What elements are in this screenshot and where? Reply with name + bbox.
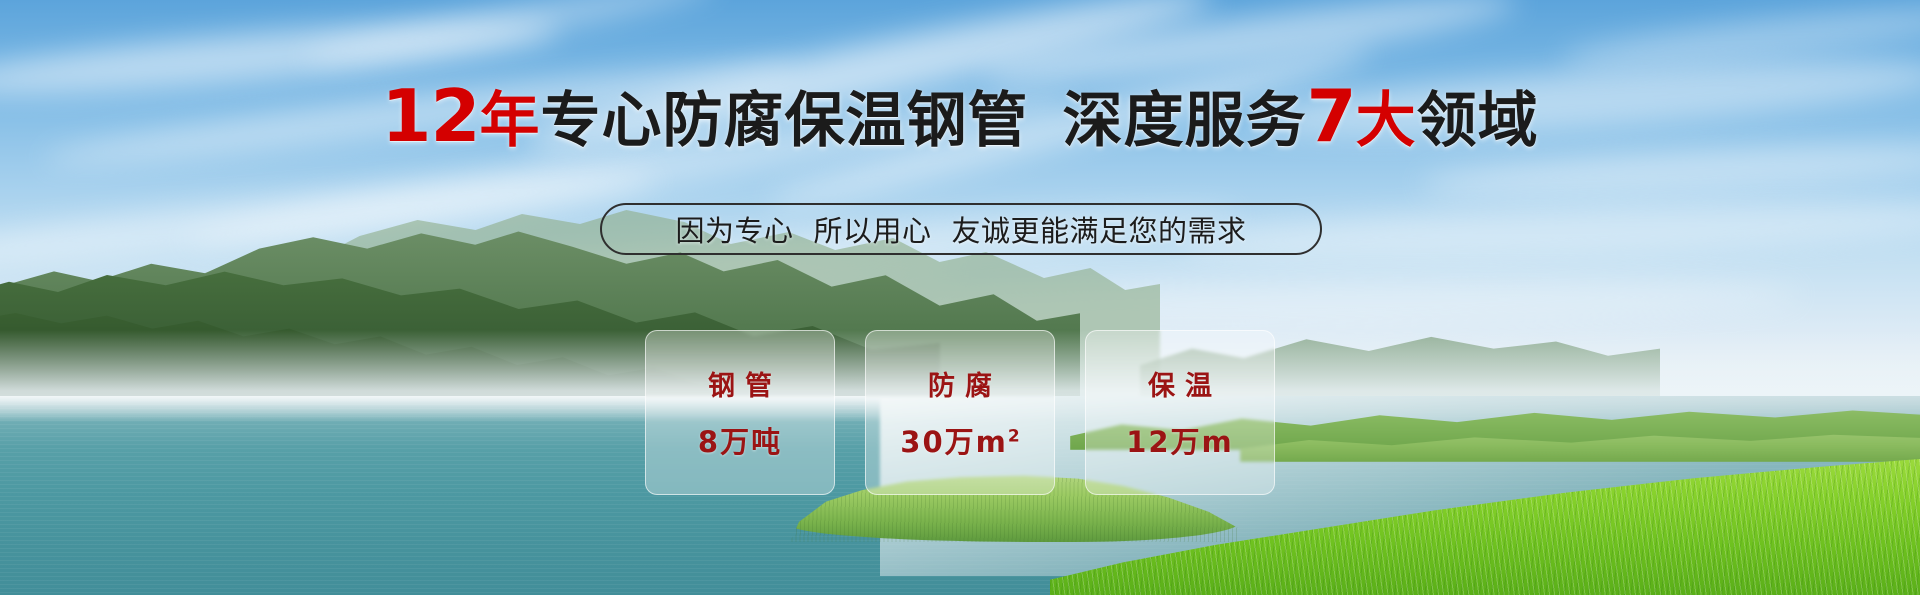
stat-card-value: 30万m2 bbox=[900, 419, 1019, 461]
stat-card-value: 8万吨 bbox=[698, 419, 782, 461]
stat-card-group: 钢管 8万吨 防腐 30万m2 保温 12万m bbox=[645, 330, 1275, 495]
headline-years-unit: 年 bbox=[480, 86, 541, 156]
stat-card-title: 钢管 bbox=[698, 364, 782, 403]
subtitle-part-2: 所以用心 bbox=[813, 214, 931, 248]
stat-card-title: 保温 bbox=[1138, 364, 1222, 403]
stat-card-value-text: 30万m bbox=[900, 425, 1008, 459]
headline-fields-unit: 大 bbox=[1356, 86, 1417, 156]
subtitle-text: 因为专心所以用心友诚更能满足您的需求 bbox=[675, 208, 1246, 250]
subtitle-part-3: 友诚更能满足您的需求 bbox=[952, 214, 1247, 248]
stat-card-value: 12万m bbox=[1126, 419, 1234, 461]
headline-fields-number: 7 bbox=[1307, 74, 1356, 158]
headline-years-number: 12 bbox=[381, 74, 479, 158]
stat-card-value-text: 8万吨 bbox=[698, 425, 782, 459]
stat-card-insulation[interactable]: 保温 12万m bbox=[1085, 330, 1275, 495]
stat-card-steel-pipe[interactable]: 钢管 8万吨 bbox=[645, 330, 835, 495]
headline-main-third: 领域 bbox=[1417, 86, 1539, 156]
subtitle-part-1: 因为专心 bbox=[675, 214, 793, 248]
stat-card-value-text: 12万m bbox=[1126, 425, 1234, 459]
hero-banner: 12年专心防腐保温钢管深度服务7大领域 因为专心所以用心友诚更能满足您的需求 钢… bbox=[0, 0, 1920, 595]
subtitle-pill: 因为专心所以用心友诚更能满足您的需求 bbox=[600, 203, 1322, 255]
headline-main-second: 深度服务 bbox=[1063, 86, 1307, 156]
stat-card-value-superscript: 2 bbox=[1008, 426, 1020, 446]
stat-card-anticorrosion[interactable]: 防腐 30万m2 bbox=[865, 330, 1055, 495]
headline: 12年专心防腐保温钢管深度服务7大领域 bbox=[0, 84, 1920, 153]
headline-main-first: 专心防腐保温钢管 bbox=[541, 86, 1029, 156]
stat-card-title: 防腐 bbox=[918, 364, 1002, 403]
